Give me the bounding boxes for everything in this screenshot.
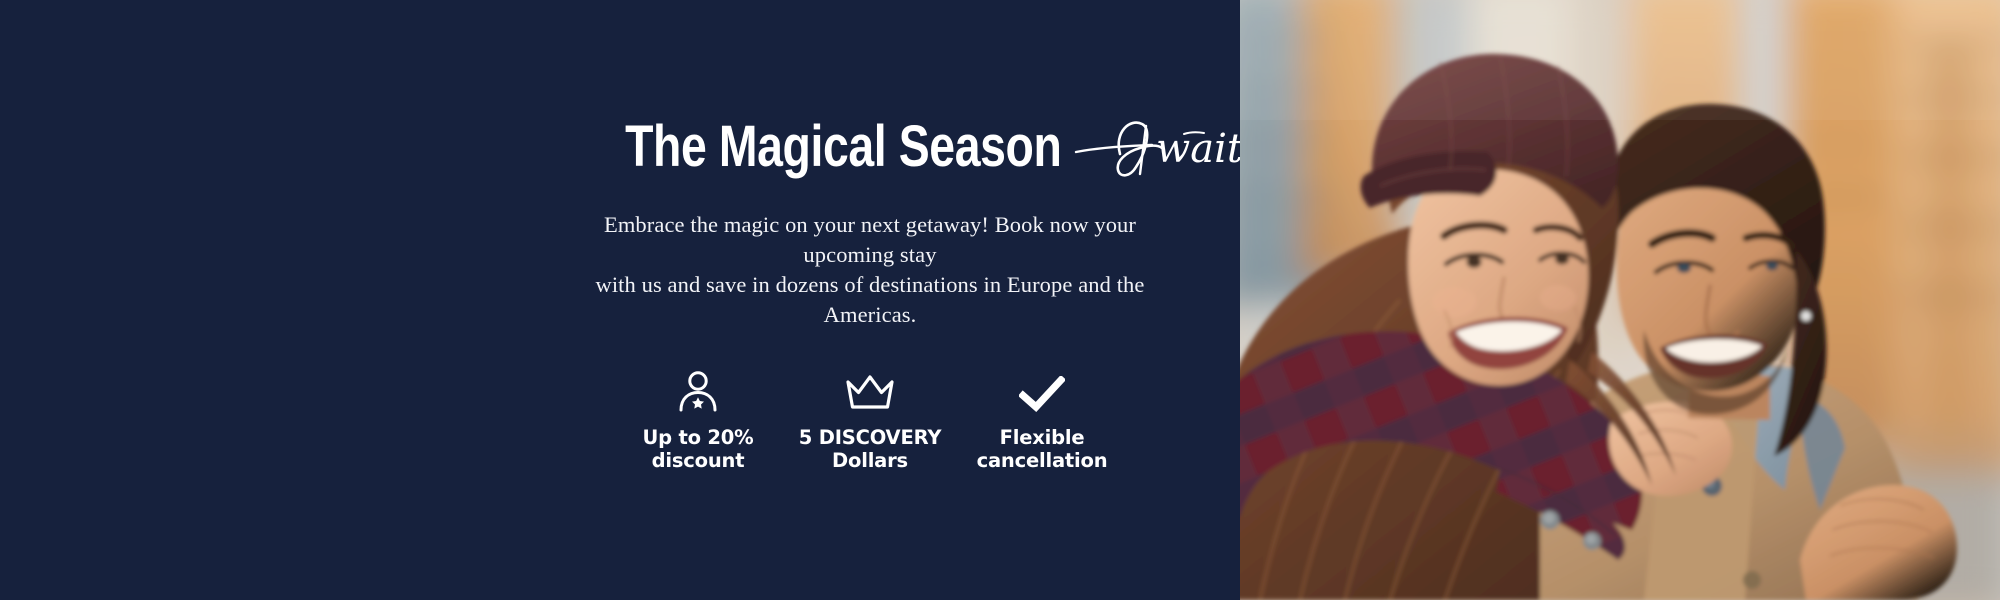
feature-discovery-dollars-label-line1: 5 DISCOVERY bbox=[799, 426, 942, 449]
feature-flexible-cancellation: Flexible cancellation bbox=[969, 368, 1115, 474]
crown-icon bbox=[845, 368, 895, 412]
promo-content: The Magical Season waits Em bbox=[560, 110, 1180, 473]
feature-discount: Up to 20% discount bbox=[625, 368, 771, 474]
subtitle-line-2: with us and save in dozens of destinatio… bbox=[560, 270, 1180, 330]
promo-photo bbox=[1240, 0, 2000, 600]
promo-banner: The Magical Season waits Em bbox=[0, 0, 2000, 600]
checkmark-icon bbox=[1019, 368, 1065, 412]
promo-left-panel: The Magical Season waits Em bbox=[0, 0, 1240, 600]
feature-discount-label-line1: Up to 20% bbox=[643, 426, 754, 449]
person-star-icon bbox=[677, 368, 719, 412]
headline-script-word: waits bbox=[1074, 112, 1224, 182]
feature-discount-label: Up to 20% discount bbox=[643, 426, 754, 474]
headline: The Magical Season waits bbox=[560, 110, 1180, 184]
feature-flexible-cancellation-label-line2: cancellation bbox=[977, 449, 1108, 472]
feature-flexible-cancellation-label-line1: Flexible bbox=[1000, 426, 1085, 449]
feature-discount-label-line2: discount bbox=[652, 449, 745, 472]
feature-discovery-dollars-label: 5 DISCOVERY Dollars bbox=[799, 426, 942, 474]
subtitle: Embrace the magic on your next getaway! … bbox=[560, 210, 1180, 330]
feature-flexible-cancellation-label: Flexible cancellation bbox=[977, 426, 1108, 474]
feature-discovery-dollars-label-line2: Dollars bbox=[832, 449, 908, 472]
feature-discovery-dollars: 5 DISCOVERY Dollars bbox=[797, 368, 943, 474]
subtitle-line-1: Embrace the magic on your next getaway! … bbox=[560, 210, 1180, 270]
feature-list: Up to 20% discount 5 DISCOVERY Dollars bbox=[560, 368, 1180, 474]
headline-main-text: The Magical Season bbox=[625, 118, 1061, 176]
